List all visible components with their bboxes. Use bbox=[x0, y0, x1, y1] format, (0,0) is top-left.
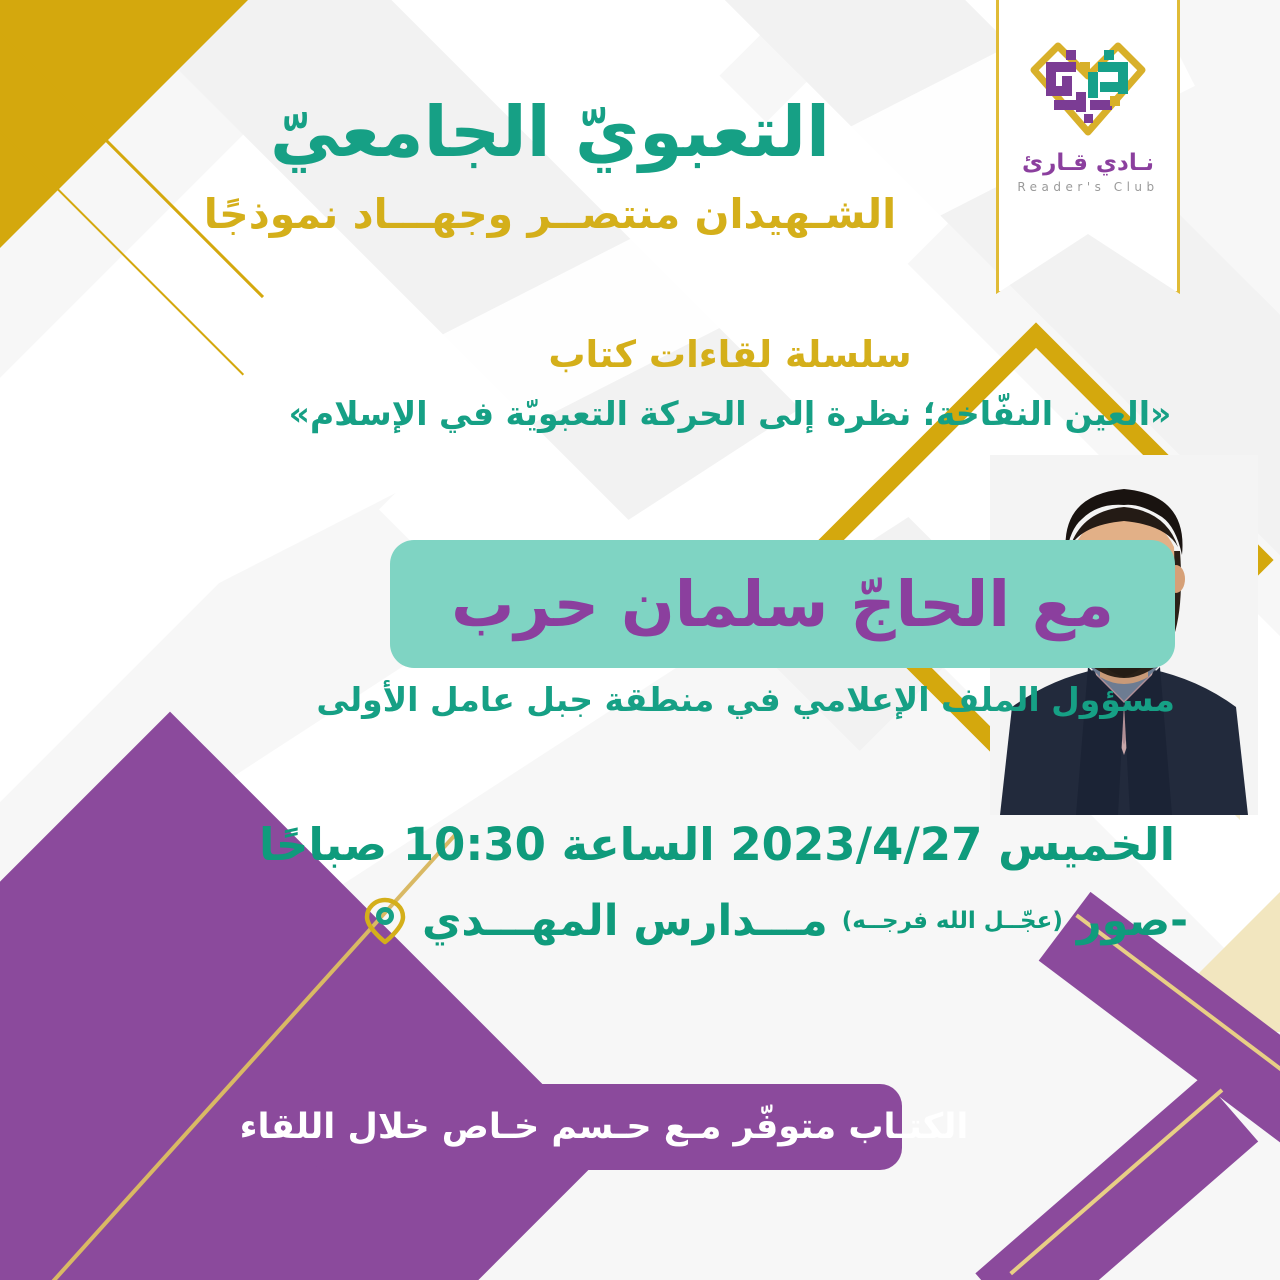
location-honorific: (عجّــل الله فرجــه) bbox=[842, 908, 1063, 934]
poster-content: التعبويّ الجامعيّ الشـهيدان منتصــر وجهـ… bbox=[0, 0, 1280, 1280]
poster-subtitle: الشـهيدان منتصــر وجهـــاد نموذجًا bbox=[0, 190, 1280, 238]
speaker-name: مع الحاجّ سلمان حرب bbox=[451, 568, 1114, 641]
location-venue: مـــدارس المهـــدي bbox=[422, 896, 828, 946]
map-pin-icon bbox=[362, 896, 408, 946]
book-discount-text: الكتـاب متوفّر مـع حـسم خـاص خلال اللقاء bbox=[240, 1107, 969, 1147]
series-label: سلسلة لقاءات كتاب bbox=[0, 333, 1280, 376]
location-city: -صور bbox=[1077, 896, 1188, 946]
poster-main-title: التعبويّ الجامعيّ bbox=[0, 96, 1280, 170]
event-location-row: -صور (عجّــل الله فرجــه) مـــدارس المهـ… bbox=[375, 896, 1175, 946]
speaker-role: مسؤول الملف الإعلامي في منطقة جبل عامل ا… bbox=[390, 680, 1175, 719]
event-poster: نـادي قـارئ Reader's Club التعبويّ الجام… bbox=[0, 0, 1280, 1280]
book-title: «العين النفّاخة؛ نظرة إلى الحركة التعبوي… bbox=[0, 394, 1280, 433]
event-datetime: الخميس 2023/4/27 الساعة 10:30 صباحًا bbox=[375, 818, 1175, 871]
speaker-name-banner: مع الحاجّ سلمان حرب bbox=[390, 540, 1175, 668]
book-discount-banner: الكتـاب متوفّر مـع حـسم خـاص خلال اللقاء bbox=[306, 1084, 902, 1170]
